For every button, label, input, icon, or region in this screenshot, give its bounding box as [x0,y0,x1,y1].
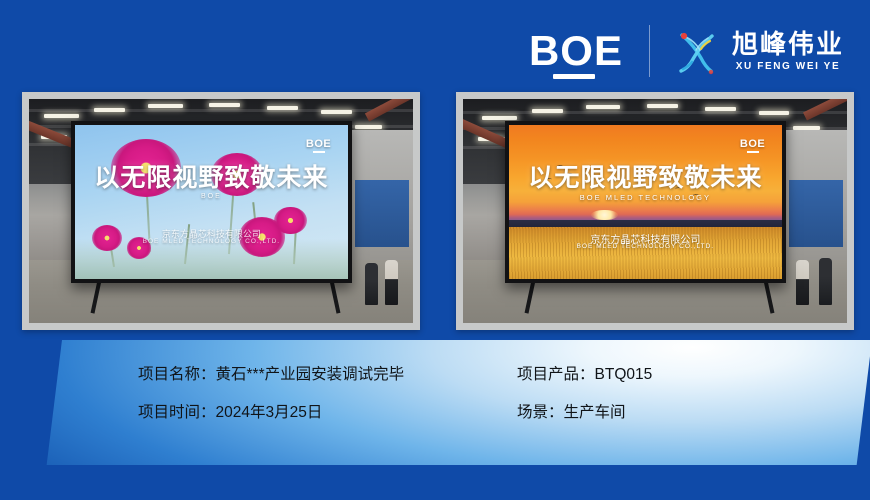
header-logo-group: BOE 旭峰伟业 XU FENG WEI YE [529,22,844,80]
screen-subtitle-text: BOE MLED TECHNOLOGY [580,193,711,202]
info-label-project-name: 项目名称： [138,366,216,383]
info-row-project-name: 项目名称：黄石***产业园安装调试完毕 [138,367,404,383]
person-figure [796,260,809,305]
partner-brand-cn: 旭峰伟业 [732,31,844,57]
info-column-left: 项目名称：黄石***产业园安装调试完毕 项目时间：2024年3月25日 [138,367,404,442]
person-figure [365,263,378,306]
sun-glow [591,210,618,221]
sunset-scene-image: BOE 以无限视野致敬未来 BOE MLED TECHNOLOGY 京东方晶芯科… [509,125,781,278]
slide-root: BOE 旭峰伟业 XU FENG WEI YE [0,0,870,500]
screen-company-en-text: BOE MLED TECHNOLOGY CO.,LTD. [143,238,280,245]
person-figure [819,258,832,305]
info-row-project-product: 项目产品：BTQ015 [517,367,652,383]
flower-scene-image: BOE 以无限视野致敬未来 BOE 京东方晶芯科技有限公司 BOE MLED T… [75,125,347,278]
info-value-project-date: 2024年3月25日 [216,404,323,421]
boe-logo-underline [553,74,595,79]
screen-calligraphy-text: 以无限视野致敬未来 [528,158,762,194]
info-panel: 项目名称：黄石***产业园安装调试完毕 项目时间：2024年3月25日 项目产品… [62,340,870,465]
boe-logo: BOE [529,30,645,72]
led-screen-content: BOE 以无限视野致敬未来 BOE MLED TECHNOLOGY 京东方晶芯科… [509,125,781,278]
screen-company-en-text: BOE MLED TECHNOLOGY CO.,LTD. [577,243,714,250]
info-label-scene: 场景： [517,404,564,421]
partner-brand-text: 旭峰伟业 XU FENG WEI YE [732,31,844,72]
warehouse-booth [355,180,409,247]
led-display-cabinet: BOE 以无限视野致敬未来 BOE 京东方晶芯科技有限公司 BOE MLED T… [71,121,351,282]
photo-image-sunset: BOE 以无限视野致敬未来 BOE MLED TECHNOLOGY 京东方晶芯科… [463,99,847,323]
info-column-right: 项目产品：BTQ015 场景：生产车间 [517,367,652,442]
screen-calligraphy-text: 以无限视野致敬未来 [94,158,328,194]
led-display-cabinet: BOE 以无限视野致敬未来 BOE MLED TECHNOLOGY 京东方晶芯科… [505,121,785,282]
info-value-scene: 生产车间 [564,404,626,421]
info-value-project-name: 黄石***产业园安装调试完毕 [216,366,405,383]
photo-led-wall-flowers: BOE 以无限视野致敬未来 BOE 京东方晶芯科技有限公司 BOE MLED T… [22,92,420,330]
info-value-project-product: BTQ015 [595,366,653,383]
logo-divider [649,25,650,77]
crane-x-icon [670,25,722,77]
warehouse-booth [789,180,843,247]
person-figure [385,260,398,305]
screen-corner-boe-logo: BOE [306,138,331,153]
info-label-project-product: 项目产品： [517,366,595,383]
info-row-project-date: 项目时间：2024年3月25日 [138,405,404,421]
info-label-project-date: 项目时间： [138,404,216,421]
flower-bloom [274,207,307,235]
led-screen-content: BOE 以无限视野致敬未来 BOE 京东方晶芯科技有限公司 BOE MLED T… [75,125,347,278]
screen-subtitle-text: BOE [201,193,222,200]
boe-logo-text: BOE [529,27,623,74]
partner-brand-en: XU FENG WEI YE [736,62,840,72]
info-row-scene: 场景：生产车间 [517,405,652,421]
screen-corner-boe-logo: BOE [740,138,765,153]
flower-bloom [92,225,122,251]
photo-led-wall-sunset: BOE 以无限视野致敬未来 BOE MLED TECHNOLOGY 京东方晶芯科… [456,92,854,330]
photo-image-flowers: BOE 以无限视野致敬未来 BOE 京东方晶芯科技有限公司 BOE MLED T… [29,99,413,323]
